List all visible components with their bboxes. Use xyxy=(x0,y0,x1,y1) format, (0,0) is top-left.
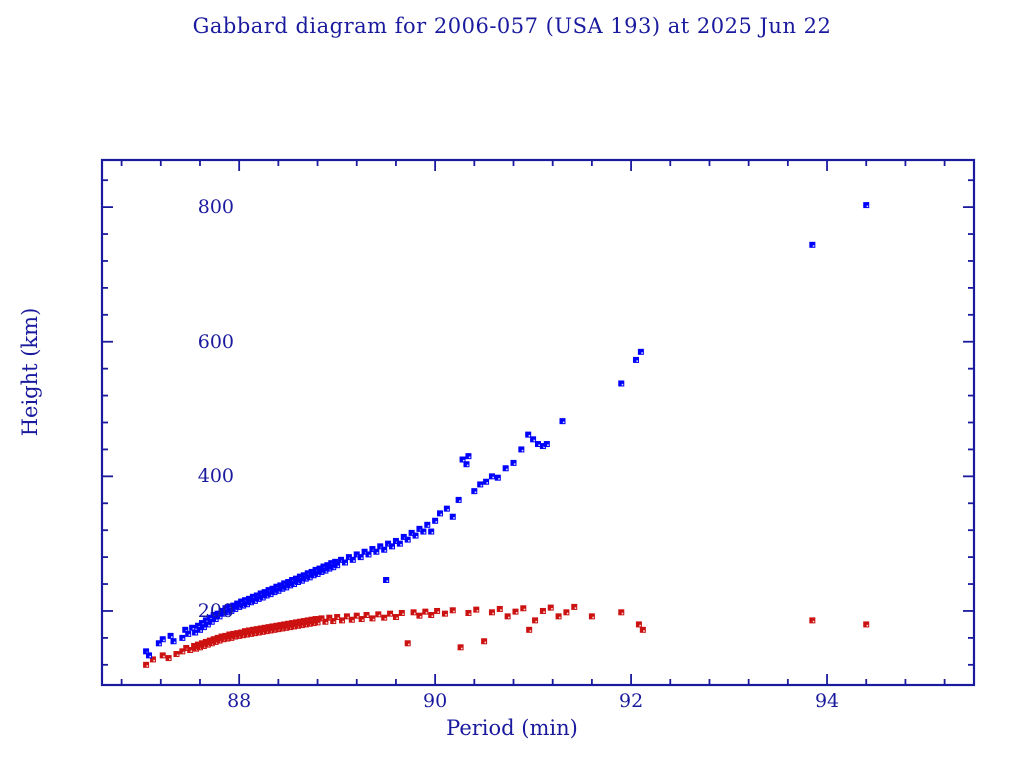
data-point xyxy=(381,615,387,621)
data-point xyxy=(563,609,569,615)
data-point xyxy=(422,609,428,615)
data-point-highlight xyxy=(436,521,438,523)
data-point xyxy=(489,473,495,479)
data-point xyxy=(518,446,524,452)
data-point xyxy=(350,557,356,563)
data-point-highlight xyxy=(171,636,173,638)
data-point xyxy=(171,638,177,644)
data-point xyxy=(369,615,375,621)
data-point xyxy=(428,612,434,618)
data-point xyxy=(146,652,152,658)
data-point xyxy=(458,644,464,650)
data-point-highlight xyxy=(524,609,526,611)
data-point-highlight xyxy=(402,613,404,615)
data-point-highlight xyxy=(492,613,494,615)
x-tick-label: 90 xyxy=(423,690,447,712)
data-point xyxy=(481,638,487,644)
data-point-highlight xyxy=(534,440,536,442)
data-point xyxy=(399,610,405,616)
data-point-highlight xyxy=(183,638,185,640)
data-point-highlight xyxy=(592,617,594,619)
gabbard-diagram-figure: Gabbard diagram for 2006-057 (USA 193) a… xyxy=(0,0,1024,768)
data-point-highlight xyxy=(326,622,328,624)
data-point xyxy=(633,357,639,363)
data-point xyxy=(185,631,191,637)
data-point-highlight xyxy=(153,660,155,662)
plot-canvas xyxy=(0,0,1024,768)
data-point-highlight xyxy=(387,580,389,582)
data-point xyxy=(160,636,166,642)
data-point xyxy=(589,613,595,619)
data-point xyxy=(465,610,471,616)
data-point-highlight xyxy=(567,613,569,615)
data-point xyxy=(411,609,417,615)
data-point xyxy=(160,652,166,658)
data-point xyxy=(618,380,624,386)
data-point xyxy=(497,606,503,612)
data-point xyxy=(809,617,815,623)
data-point xyxy=(809,242,815,248)
data-point-highlight xyxy=(445,614,447,616)
data-point-highlight xyxy=(813,621,815,623)
data-point-highlight xyxy=(177,654,179,656)
data-point xyxy=(342,560,348,566)
series-perigee-points xyxy=(143,577,869,668)
data-point-highlight xyxy=(163,640,165,642)
data-point-highlight xyxy=(459,500,461,502)
data-point xyxy=(495,475,501,481)
data-point-highlight xyxy=(200,630,202,632)
data-point-highlight xyxy=(352,620,354,622)
data-point xyxy=(358,554,364,560)
data-point-highlight xyxy=(563,422,565,424)
data-point xyxy=(863,621,869,627)
data-point xyxy=(143,662,149,668)
data-point-highlight xyxy=(453,611,455,613)
data-point xyxy=(173,651,179,657)
data-point xyxy=(532,617,538,623)
y-tick-label: 400 xyxy=(198,465,234,487)
data-point xyxy=(420,529,426,535)
data-point xyxy=(571,604,577,610)
data-point-highlight xyxy=(424,532,426,534)
data-point xyxy=(383,577,389,583)
data-point xyxy=(387,611,393,617)
data-point-highlight xyxy=(189,634,191,636)
x-tick-label: 92 xyxy=(619,690,643,712)
data-point xyxy=(432,518,438,524)
data-point-highlight xyxy=(486,482,488,484)
data-point-highlight xyxy=(334,621,336,623)
data-point-highlight xyxy=(467,465,469,467)
data-point-highlight xyxy=(353,560,355,562)
series-apogee-points xyxy=(143,202,869,658)
data-point-highlight xyxy=(400,544,402,546)
data-point-highlight xyxy=(357,616,359,618)
data-point-highlight xyxy=(432,532,434,534)
data-point-highlight xyxy=(183,652,185,654)
data-point xyxy=(437,510,443,516)
data-point xyxy=(166,655,172,661)
data-point-highlight xyxy=(385,550,387,552)
data-point xyxy=(465,453,471,459)
data-point-highlight xyxy=(514,463,516,465)
data-point-highlight xyxy=(149,656,151,658)
data-point-highlight xyxy=(208,625,210,627)
data-point-highlight xyxy=(379,615,381,617)
data-point-highlight xyxy=(420,616,422,618)
data-point-highlight xyxy=(338,617,340,619)
x-tick-label: 88 xyxy=(227,690,251,712)
data-point-highlight xyxy=(212,622,214,624)
data-point xyxy=(505,613,511,619)
data-point-highlight xyxy=(485,642,487,644)
data-point-highlight xyxy=(408,540,410,542)
data-point xyxy=(375,611,381,617)
data-point-highlight xyxy=(195,633,197,635)
data-point-highlight xyxy=(367,615,369,617)
data-point-highlight xyxy=(204,628,206,630)
data-point-highlight xyxy=(392,547,394,549)
data-point xyxy=(428,529,434,535)
data-point xyxy=(179,635,185,641)
data-point-highlight xyxy=(373,619,375,621)
data-point-highlight xyxy=(529,435,531,437)
data-point-highlight xyxy=(361,558,363,560)
data-point-highlight xyxy=(453,517,455,519)
data-point-highlight xyxy=(377,552,379,554)
data-point-highlight xyxy=(440,514,442,516)
data-point-highlight xyxy=(813,245,815,247)
data-point xyxy=(638,349,644,355)
data-point xyxy=(483,479,489,485)
data-point xyxy=(489,609,495,615)
data-point-highlight xyxy=(437,611,439,613)
data-point xyxy=(473,607,479,613)
data-point-highlight xyxy=(506,469,508,471)
data-point-highlight xyxy=(318,623,320,625)
data-point-highlight xyxy=(481,485,483,487)
data-point xyxy=(526,627,532,633)
data-point xyxy=(442,611,448,617)
data-point-highlight xyxy=(342,621,344,623)
data-point-highlight xyxy=(475,492,477,494)
data-point xyxy=(511,460,517,466)
data-point-highlight xyxy=(174,642,176,644)
data-point-highlight xyxy=(432,615,434,617)
data-point xyxy=(450,607,456,613)
data-point-highlight xyxy=(159,644,161,646)
data-point-highlight xyxy=(538,444,540,446)
data-point xyxy=(863,202,869,208)
data-point xyxy=(512,609,518,615)
data-point xyxy=(424,522,430,528)
data-point xyxy=(520,605,526,611)
data-point xyxy=(168,633,174,639)
data-point xyxy=(366,551,372,557)
y-tick-label: 200 xyxy=(198,600,234,622)
data-point xyxy=(373,549,379,555)
data-point-highlight xyxy=(867,625,869,627)
data-point-highlight xyxy=(191,650,193,652)
data-point-highlight xyxy=(543,611,545,613)
data-point-highlight xyxy=(551,608,553,610)
data-point xyxy=(503,465,509,471)
data-point xyxy=(618,609,624,615)
data-point xyxy=(397,541,403,547)
data-point xyxy=(559,418,565,424)
data-point-highlight xyxy=(559,617,561,619)
data-point xyxy=(471,488,477,494)
data-point xyxy=(389,543,395,549)
data-point xyxy=(456,497,462,503)
data-point xyxy=(544,441,550,447)
data-point-highlight xyxy=(369,555,371,557)
data-point xyxy=(463,461,469,467)
data-point xyxy=(636,621,642,627)
data-point-highlight xyxy=(530,630,532,632)
data-point xyxy=(477,481,483,487)
data-point-highlight xyxy=(447,509,449,511)
data-point xyxy=(405,537,411,543)
data-point-highlight xyxy=(338,566,340,568)
data-point-highlight xyxy=(641,352,643,354)
data-point-highlight xyxy=(428,525,430,527)
data-point xyxy=(334,562,340,568)
data-point-highlight xyxy=(169,658,171,660)
data-point-highlight xyxy=(163,656,165,658)
data-point-highlight xyxy=(492,477,494,479)
data-point-highlight xyxy=(622,384,624,386)
data-point-highlight xyxy=(390,614,392,616)
data-point-highlight xyxy=(461,648,463,650)
data-point-highlight xyxy=(522,450,524,452)
data-point xyxy=(548,605,554,611)
data-point xyxy=(413,533,419,539)
y-tick-label: 600 xyxy=(198,331,234,353)
data-point-highlight xyxy=(146,665,148,667)
data-point xyxy=(393,614,399,620)
data-point xyxy=(364,612,370,618)
data-point-highlight xyxy=(345,563,347,565)
data-point xyxy=(450,514,456,520)
data-point-highlight xyxy=(535,621,537,623)
data-point-highlight xyxy=(347,617,349,619)
data-point-highlight xyxy=(547,444,549,446)
data-point xyxy=(405,640,411,646)
data-point-highlight xyxy=(469,613,471,615)
data-point-highlight xyxy=(622,613,624,615)
data-point-highlight xyxy=(426,612,428,614)
data-point-highlight xyxy=(414,613,416,615)
data-point-highlight xyxy=(385,618,387,620)
data-point-highlight xyxy=(636,360,638,362)
data-point-highlight xyxy=(500,609,502,611)
data-point xyxy=(381,547,387,553)
data-point-highlight xyxy=(396,617,398,619)
data-point-highlight xyxy=(508,617,510,619)
data-point-highlight xyxy=(575,607,577,609)
y-tick-label: 800 xyxy=(198,196,234,218)
data-point-highlight xyxy=(408,644,410,646)
data-point-highlight xyxy=(469,457,471,459)
data-point-highlight xyxy=(416,536,418,538)
data-point-highlight xyxy=(639,625,641,627)
data-point xyxy=(556,613,562,619)
data-point-highlight xyxy=(477,610,479,612)
data-point xyxy=(434,608,440,614)
data-point-highlight xyxy=(867,206,869,208)
data-point-highlight xyxy=(362,619,364,621)
data-point xyxy=(416,613,422,619)
data-point-highlight xyxy=(516,612,518,614)
data-point xyxy=(540,608,546,614)
data-point xyxy=(444,506,450,512)
x-tick-label: 94 xyxy=(815,690,839,712)
data-point-highlight xyxy=(498,478,500,480)
data-point-highlight xyxy=(643,630,645,632)
data-point xyxy=(640,627,646,633)
